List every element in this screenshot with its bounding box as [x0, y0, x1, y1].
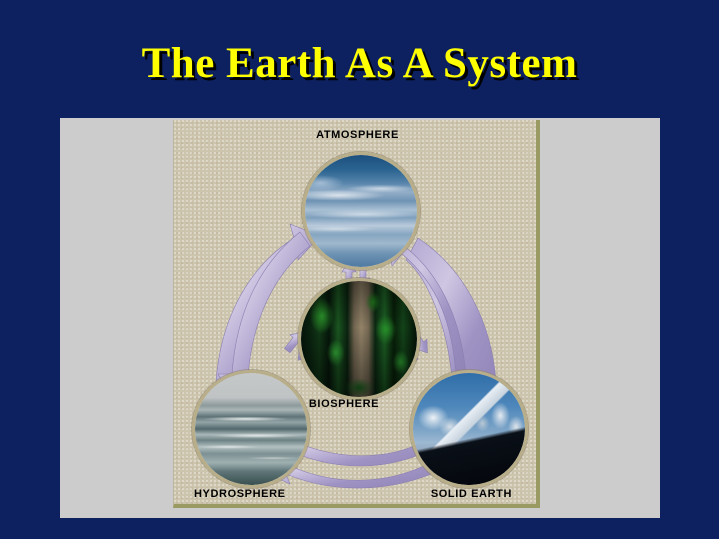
label-hydrosphere: HYDROSPHERE — [174, 488, 374, 500]
node-circle-solid-earth[interactable] — [410, 370, 528, 488]
label-solid-earth: SOLID EARTH — [354, 488, 534, 500]
figure-frame: ATMOSPHERE BIOSPHERE HYDROSPHERE SOLID E… — [60, 118, 660, 518]
earth-system-diagram: ATMOSPHERE BIOSPHERE HYDROSPHERE SOLID E… — [173, 120, 540, 508]
sky-photo — [305, 155, 417, 267]
ocean-photo — [195, 373, 307, 485]
node-circle-atmosphere[interactable] — [302, 152, 420, 270]
node-circle-biosphere[interactable] — [298, 278, 420, 400]
forest-photo — [301, 281, 417, 397]
slide: The Earth As A System — [0, 0, 719, 539]
mountains-photo — [413, 373, 525, 485]
page-title: The Earth As A System — [0, 40, 719, 88]
label-atmosphere: ATMOSPHERE — [174, 129, 540, 141]
label-biosphere: BIOSPHERE — [264, 398, 424, 410]
node-circle-hydrosphere[interactable] — [192, 370, 310, 488]
